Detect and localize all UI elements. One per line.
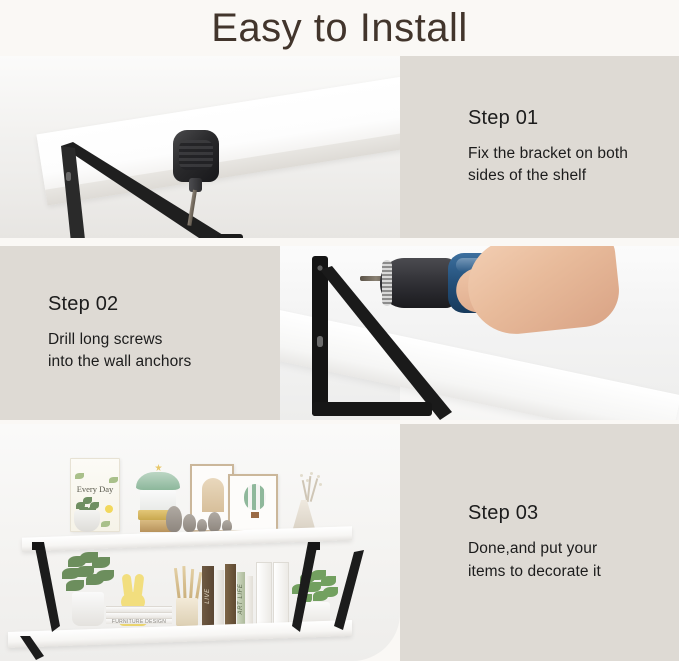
decor-pencil-cup (176, 598, 198, 626)
step-row-1: Step 01 Fix the bracket on both sides of… (0, 56, 679, 238)
shelf-bracket-top-left (30, 542, 66, 634)
step-3-image: Every Day (0, 424, 400, 661)
book-spine-label-1: LIVE (205, 588, 211, 603)
drill-grip-ribs (179, 140, 213, 170)
carousel-roof (136, 472, 180, 490)
step-2-description: Drill long screws into the wall anchors (48, 329, 280, 374)
install-guide-page: Easy to Install (0, 0, 679, 661)
carousel-star-icon (155, 464, 162, 471)
step-2-label: Step 02 (48, 293, 280, 315)
book-title-text: Every Day (71, 485, 119, 494)
step-1-text-panel: Step 01 Fix the bracket on both sides of… (400, 56, 679, 238)
step-3-description: Done,and put your items to decorate it (468, 538, 679, 583)
shelf-bracket-right-outer (330, 550, 370, 634)
decor-stacked-books: FURNITURE DESIGN (106, 606, 172, 626)
shelf-bracket-icon (55, 136, 255, 238)
step-3-text-panel: Step 03 Done,and put your items to decor… (400, 424, 679, 661)
step-2-image (280, 246, 679, 420)
page-title-bar: Easy to Install (0, 0, 679, 56)
shelf-bracket-top-right (286, 542, 322, 634)
hot-air-balloon-artwork (244, 484, 266, 510)
balloon-basket (251, 512, 259, 518)
step-1-description: Fix the bracket on both sides of the she… (468, 143, 679, 188)
step-row-3: Every Day (0, 424, 679, 661)
decor-book-spines: LIVE ART LIFE (202, 560, 294, 626)
shelf-bracket-bottom-left (18, 636, 50, 660)
decor-pencils (172, 566, 206, 602)
drill-clutch-ring (382, 260, 392, 306)
step-1-image (0, 56, 400, 238)
step-2-text-panel: Step 02 Drill long screws into the wall … (0, 246, 280, 420)
drill-tool (167, 130, 223, 214)
stacked-book-title: FURNITURE DESIGN (106, 619, 172, 625)
page-title: Easy to Install (211, 8, 468, 48)
decor-art-frame-balloon (228, 474, 278, 532)
decor-dried-stems (296, 472, 322, 502)
book-spine-label-2: ART LIFE (238, 583, 244, 614)
step-row-2: Step 02 Drill long screws into the wall … (0, 246, 679, 420)
decor-succulent-pot (74, 510, 100, 532)
decor-plant-left-pot (72, 592, 104, 626)
decor-wooden-figurines (166, 504, 232, 532)
step-1-label: Step 01 (468, 107, 679, 129)
step-3-label: Step 03 (468, 502, 679, 524)
